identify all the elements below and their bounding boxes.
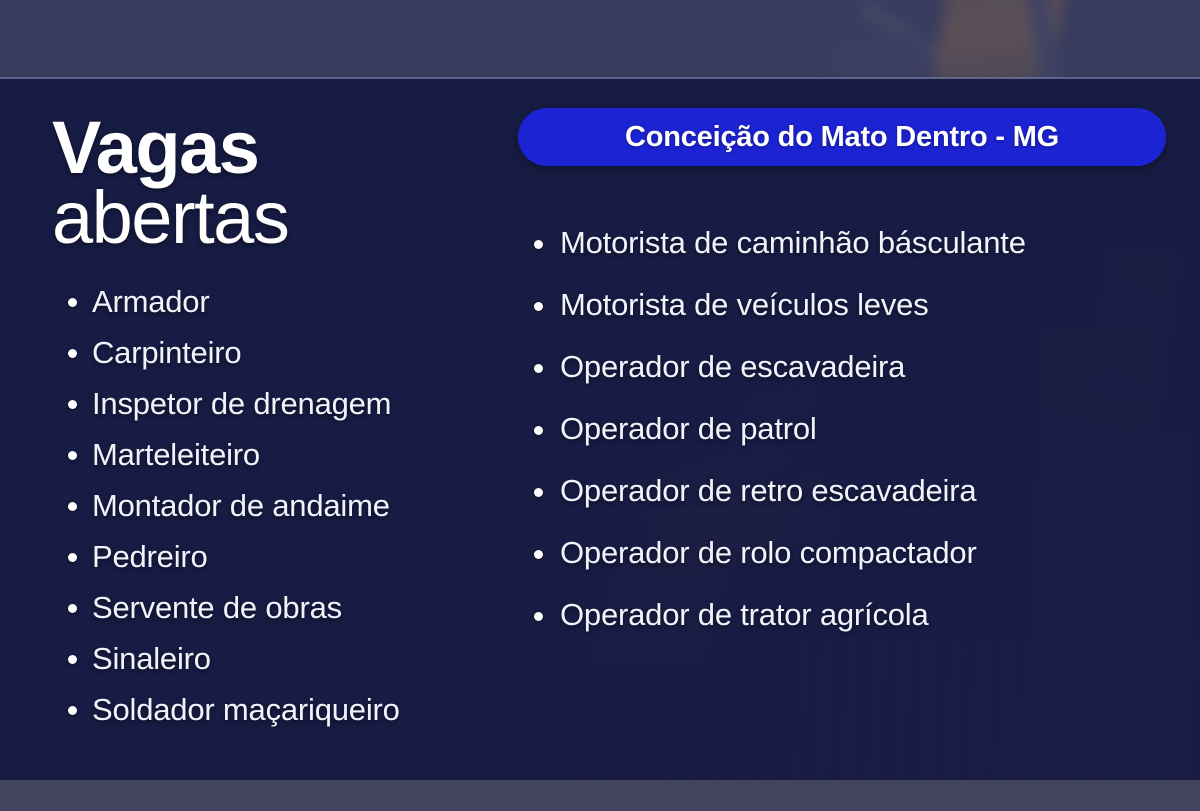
list-item: Operador de retro escavadeira (528, 460, 1026, 522)
job-title: Carpinteiro (92, 335, 241, 370)
bullet-icon (68, 706, 77, 715)
job-title: Operador de rolo compactador (560, 535, 977, 570)
bullet-icon (68, 451, 77, 460)
list-item: Operador de patrol (528, 398, 1026, 460)
slide-canvas: Vagas abertas Conceição do Mato Dentro -… (0, 0, 1200, 811)
job-title: Soldador maçariqueiro (92, 692, 400, 727)
job-title: Armador (92, 284, 209, 319)
bottom-letterbox-bar (0, 778, 1200, 811)
list-item: Montador de andaime (62, 480, 400, 531)
top-bar-photo-fragment (820, 0, 1150, 79)
bullet-icon (68, 553, 77, 562)
page-title-line-1: Vagas (52, 113, 288, 183)
list-item: Operador de rolo compactador (528, 522, 1026, 584)
bullet-icon (534, 426, 543, 435)
list-item: Motorista de caminhão básculante (528, 212, 1026, 274)
job-title: Operador de patrol (560, 411, 817, 446)
bullet-icon (68, 604, 77, 613)
bullet-icon (534, 302, 543, 311)
job-title: Operador de escavadeira (560, 349, 905, 384)
list-item: Soldador maçariqueiro (62, 684, 400, 735)
bullet-icon (68, 655, 77, 664)
list-item: Marteleiteiro (62, 429, 400, 480)
list-item: Inspetor de drenagem (62, 378, 400, 429)
job-title: Operador de retro escavadeira (560, 473, 976, 508)
list-item: Sinaleiro (62, 633, 400, 684)
list-item: Operador de escavadeira (528, 336, 1026, 398)
list-item: Armador (62, 276, 400, 327)
list-item: Operador de trator agrícola (528, 584, 1026, 646)
job-title: Motorista de caminhão básculante (560, 225, 1026, 260)
list-item: Pedreiro (62, 531, 400, 582)
bullet-icon (534, 612, 543, 621)
bullet-icon (534, 364, 543, 373)
job-title: Marteleiteiro (92, 437, 260, 472)
job-title: Operador de trator agrícola (560, 597, 929, 632)
excavator-cab-icon (832, 38, 924, 79)
job-title: Motorista de veículos leves (560, 287, 929, 322)
job-title: Pedreiro (92, 539, 208, 574)
list-item: Servente de obras (62, 582, 400, 633)
job-title: Inspetor de drenagem (92, 386, 391, 421)
location-badge-label: Conceição do Mato Dentro - MG (625, 121, 1059, 154)
list-item: Motorista de veículos leves (528, 274, 1026, 336)
job-title: Sinaleiro (92, 641, 211, 676)
job-list-left: Armador Carpinteiro Inspetor de drenagem… (62, 276, 400, 735)
bullet-icon (68, 400, 77, 409)
bullet-icon (68, 349, 77, 358)
job-title: Montador de andaime (92, 488, 390, 523)
job-list-right: Motorista de caminhão básculante Motoris… (528, 212, 1026, 646)
top-letterbox-bar (0, 0, 1200, 79)
slide-content: Vagas abertas Conceição do Mato Dentro -… (0, 0, 1200, 811)
bullet-icon (534, 240, 543, 249)
bullet-icon (68, 298, 77, 307)
bullet-icon (68, 502, 77, 511)
job-title: Servente de obras (92, 590, 342, 625)
location-badge: Conceição do Mato Dentro - MG (518, 108, 1166, 166)
bullet-icon (534, 550, 543, 559)
list-item: Carpinteiro (62, 327, 400, 378)
page-title: Vagas abertas (52, 113, 288, 252)
bullet-icon (534, 488, 543, 497)
page-title-line-2: abertas (52, 183, 288, 253)
